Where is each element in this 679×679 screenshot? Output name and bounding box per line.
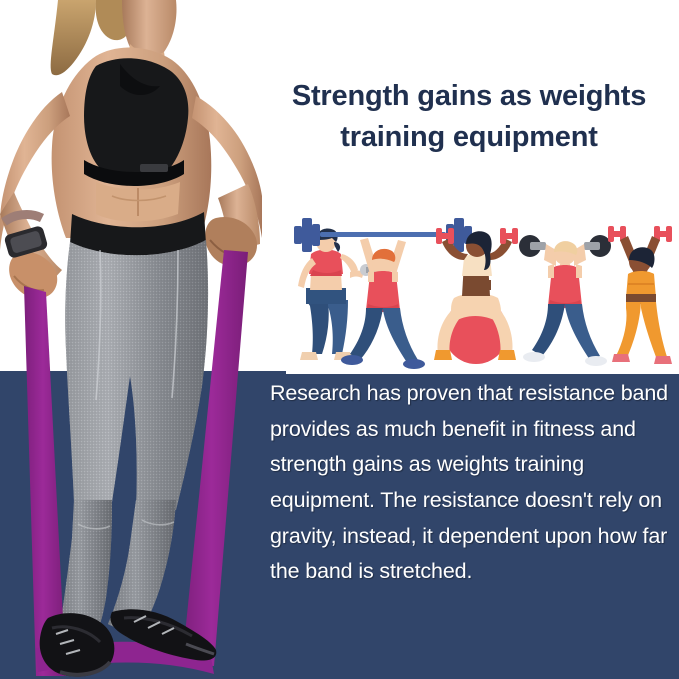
hero-photo xyxy=(0,0,262,679)
product-infographic: Strength gains as weights training equip… xyxy=(0,0,679,679)
body-paragraph: Research has proven that resistance band… xyxy=(270,376,678,590)
headline-line-1: Strength gains as weights xyxy=(292,80,646,112)
page-title: Strength gains as weights training equip… xyxy=(264,76,674,158)
fitness-figures-illustration xyxy=(286,214,679,374)
five-athletes-graphic xyxy=(286,214,679,374)
woman-exercising-illustration xyxy=(0,0,262,679)
headline-line-2: training equipment xyxy=(264,117,674,158)
